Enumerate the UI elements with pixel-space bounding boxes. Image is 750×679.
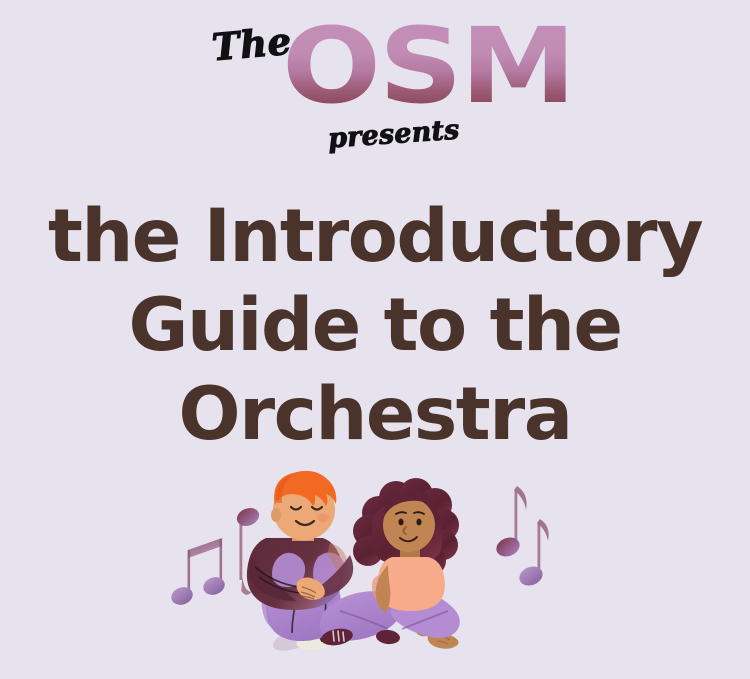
page-title: the Introductory Guide to the Orchestra (0, 192, 750, 459)
title-line-1: the Introductory (0, 192, 750, 281)
title-line-3: Orchestra (0, 370, 750, 459)
title-line-2: Guide to the (0, 281, 750, 370)
music-note-single-right-lower (517, 519, 549, 589)
osm-logo-wordmark: OSM (282, 14, 574, 118)
poster-canvas: The OSM presents the Introductory Guide … (0, 0, 750, 679)
children-listening-illustration (0, 465, 750, 665)
music-note-single-right (494, 486, 527, 560)
the-word-label: The (210, 19, 293, 70)
branding-header: The OSM presents (0, 0, 750, 175)
music-note-beamed-left (169, 538, 227, 608)
